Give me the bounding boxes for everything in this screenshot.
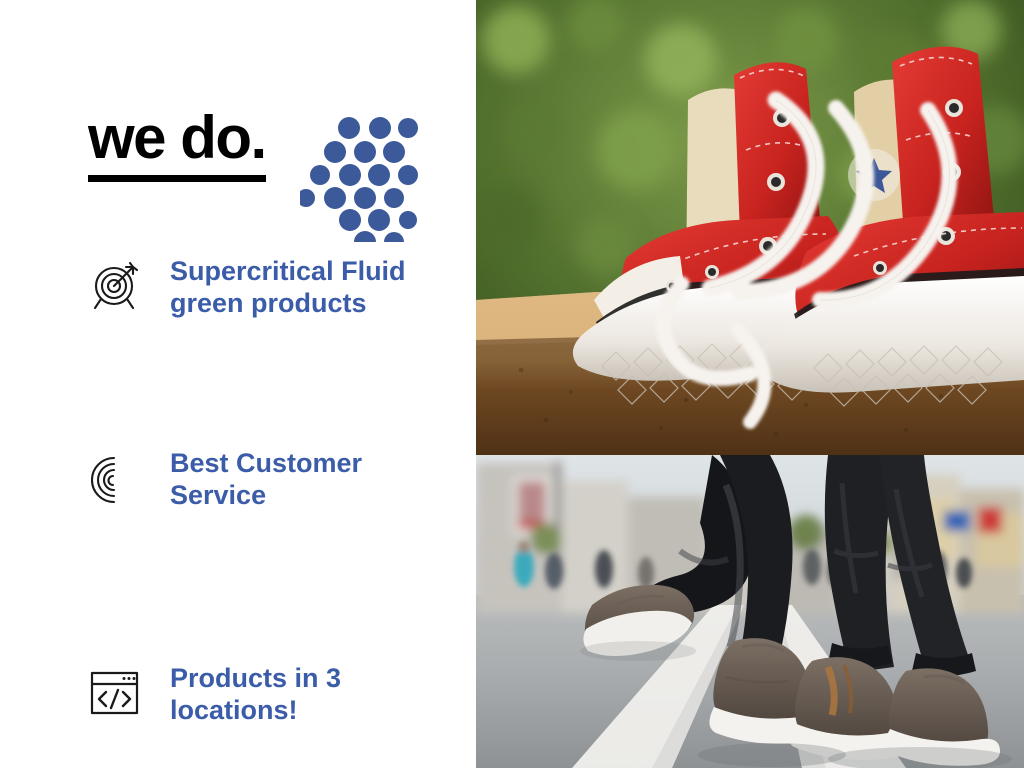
brand-underline-rule [88,175,266,182]
red-high-top-sneakers-photo [476,0,1024,455]
feature-item: Supercritical Fluid green products [88,256,458,320]
dot-triangle-logo [300,116,418,247]
street-crosswalk-sneakers-photo-svg [476,455,1024,768]
feature-item-label: Products in 3 locations! [170,663,341,727]
brand-wordmark: we do. [88,108,266,184]
red-high-top-sneakers-photo-svg [476,0,1024,455]
feature-item-label: Supercritical Fluid green products [170,256,406,320]
dot-triangle-logo-svg [300,116,418,242]
signal-ripple-icon [88,450,144,506]
browser-code-window-icon-svg [89,669,143,717]
brand-wordmark-text: we do. [88,108,266,168]
street-crosswalk-sneakers-photo [476,455,1024,768]
target-bullseye-icon [88,258,144,314]
signal-ripple-icon-svg [89,451,143,505]
browser-code-window-icon [88,665,144,721]
brand-lockup: we do. [88,108,418,247]
feature-item: Best Customer Service [88,448,458,512]
feature-item-label: Best Customer Service [170,448,362,512]
photo-column [476,0,1024,768]
slide-root: we do. [0,0,1024,768]
target-bullseye-icon-svg [89,259,143,313]
feature-item: Products in 3 locations! [88,663,458,727]
left-content-panel: we do. [0,0,476,768]
